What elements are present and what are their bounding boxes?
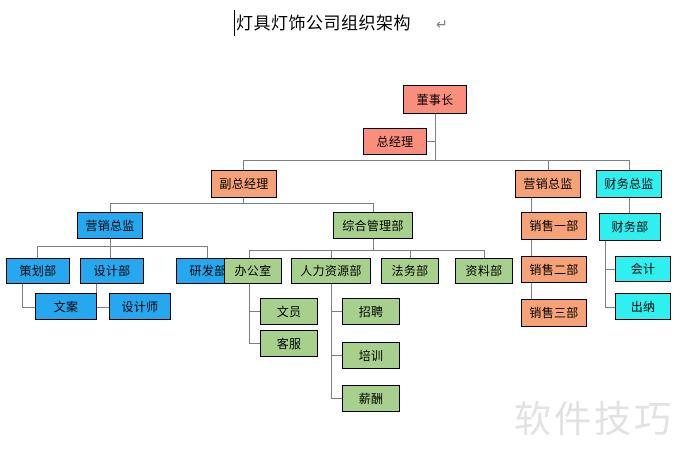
connector-rnd-drop [207,246,208,258]
node-deputy-general-manager[interactable]: 副总经理 [211,170,277,198]
node-accountant[interactable]: 会计 [615,256,671,282]
connector-level3-bus [110,203,373,204]
connector-design-drop [110,246,111,258]
node-finance-director[interactable]: 财务总监 [596,170,662,198]
node-design-department[interactable]: 设计部 [80,258,144,284]
connector-mkt-director-drop [110,203,111,212]
connector-hr-drop [331,250,332,258]
connector-finance-children-v [605,241,606,307]
node-sales-dept-3[interactable]: 销售三部 [521,299,587,327]
connector-planning-drop [37,246,38,258]
connector-deputy-gm-drop [243,160,244,170]
node-designer[interactable]: 设计师 [109,293,171,320]
connector-legal-drop [410,250,411,258]
connector-hr-children-v [331,283,332,398]
connector-design-designer-h [96,307,109,308]
text-caret [234,10,235,36]
connector-sales-director-drop [548,160,549,170]
node-copywriter[interactable]: 文案 [35,293,97,320]
node-customer-service[interactable]: 客服 [260,330,318,357]
node-general-manager[interactable]: 总经理 [363,128,427,155]
node-training[interactable]: 培训 [342,342,400,369]
node-payroll[interactable]: 薪酬 [342,385,400,412]
connector-admin-down [373,238,374,250]
node-sales-director[interactable]: 营销总监 [515,170,581,198]
connector-admin-children-bus [249,250,484,251]
connector-archive-drop [484,250,485,258]
node-admin-department[interactable]: 综合管理部 [333,212,413,239]
connector-accountant-h [605,269,615,270]
node-cashier[interactable]: 出纳 [615,293,671,320]
title-area: 灯具灯饰公司组织架构 ↵ [0,0,686,52]
connector-hr-training-h [331,355,342,356]
node-recruitment[interactable]: 招聘 [342,298,400,325]
paragraph-mark-icon: ↵ [436,16,448,33]
node-legal-department[interactable]: 法务部 [381,258,439,284]
connector-planning-copywriter-h [22,307,35,308]
node-planning-department[interactable]: 策划部 [6,258,70,284]
node-hr-department[interactable]: 人力资源部 [291,258,371,284]
node-sales-dept-1[interactable]: 销售一部 [521,212,587,240]
node-marketing-director[interactable]: 营销总监 [77,212,143,239]
node-office[interactable]: 办公室 [224,258,282,284]
org-chart-canvas: 灯具灯饰公司组织架构 ↵ 董事长 [0,0,686,471]
connector-office-children-v [249,283,250,343]
connector-office-cs-h [249,343,260,344]
connector-level2-bus [243,160,629,161]
connector-mkt-down [110,238,111,246]
node-archive-department[interactable]: 资料部 [455,258,513,284]
connector-planning-copywriter-v [22,283,23,307]
connector-gm-stub [427,141,436,142]
connector-hr-recruit-h [331,311,342,312]
connector-finance-dept-v [629,197,630,213]
connector-finance-director-drop [629,160,630,170]
connector-chairman-trunk [435,113,436,161]
connector-mkt-children-bus [37,246,207,247]
connector-hr-payroll-h [331,398,342,399]
connector-cashier-h [605,307,615,308]
node-sales-dept-2[interactable]: 销售二部 [521,256,587,283]
connector-office-drop [249,250,250,258]
node-finance-department[interactable]: 财务部 [599,213,661,241]
watermark: 软件技巧 [514,389,674,443]
connector-admin-dept-drop [373,203,374,212]
node-chairman[interactable]: 董事长 [403,85,467,114]
node-clerk[interactable]: 文员 [260,298,318,325]
page-title: 灯具灯饰公司组织架构 [236,12,411,36]
connector-office-clerk-h [249,311,260,312]
